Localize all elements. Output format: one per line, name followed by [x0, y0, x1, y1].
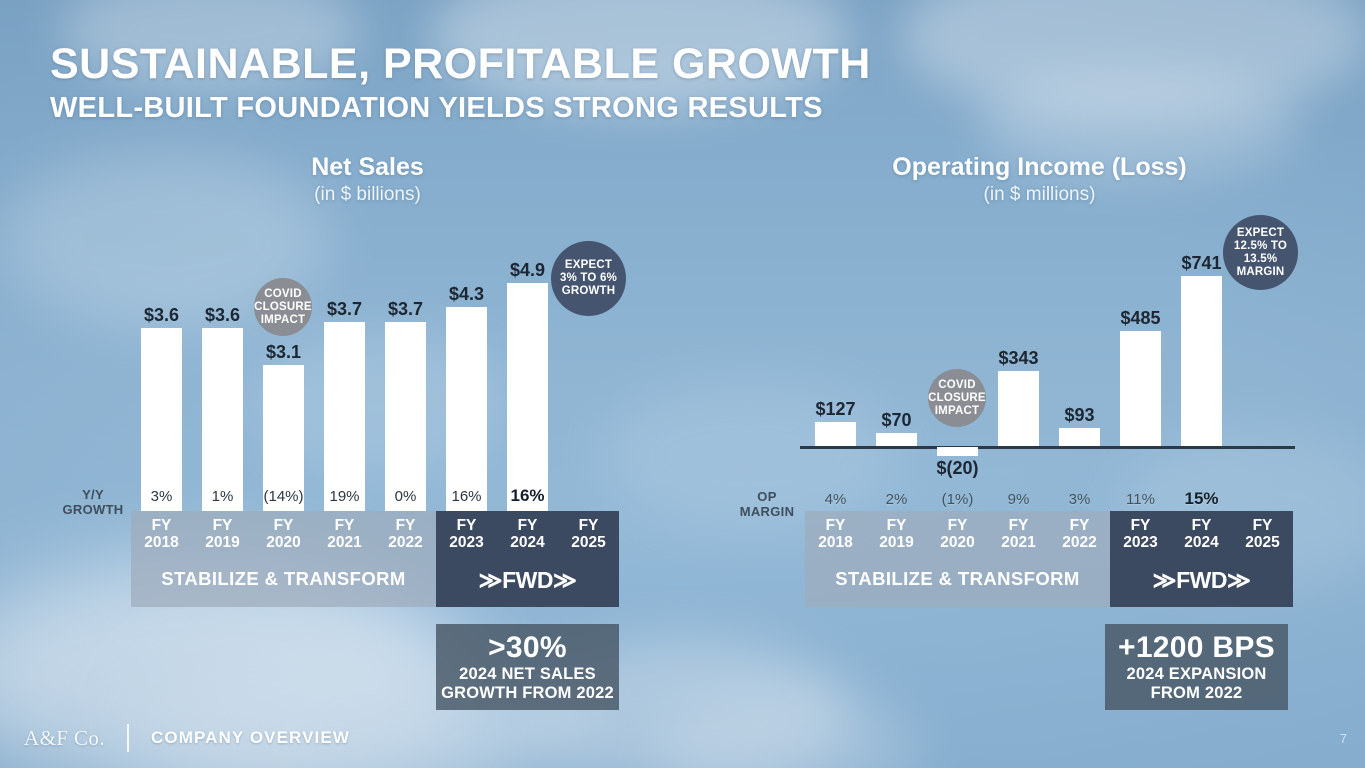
x-tick-fy2018-line2: 2018 — [131, 534, 192, 551]
net-sales-callout: >30% 2024 NET SALES GROWTH FROM 2022 — [436, 624, 619, 710]
page-number: 7 — [1340, 731, 1347, 746]
bar-fy2024 — [1181, 276, 1222, 446]
phase-band-fwd-label: ≫FWD≫ — [436, 567, 619, 594]
value-label-fy2022: $93 — [1045, 405, 1114, 426]
x-tick-fy2019: FY 2019 — [192, 517, 253, 551]
expect-badge-line2: 3% TO 6% — [560, 272, 617, 285]
covid-badge-line3: IMPACT — [254, 314, 312, 327]
operating-income-callout-line2: FROM 2022 — [1151, 684, 1243, 703]
value-label-fy2018: $3.6 — [131, 305, 192, 326]
net-sales-callout-headline: >30% — [488, 631, 567, 665]
x-tick-fy2022-line1: FY — [375, 517, 436, 534]
growth-label-fy2023: 16% — [446, 488, 487, 505]
bar-fy2021 — [324, 322, 365, 511]
x-tick-fy2021-line1: FY — [314, 517, 375, 534]
net-sales-callout-line1: 2024 NET SALES — [459, 665, 596, 684]
x-tick-fy2023: FY 2023 — [1110, 517, 1171, 551]
net-sales-chart: $3.6 $3.6 $3.1 $3.7 $3.7 $4.3 $4.9 3% 1%… — [0, 0, 683, 768]
x-tick-fy2019-line2: 2019 — [192, 534, 253, 551]
expect-badge-line1: EXPECT — [1234, 227, 1287, 240]
x-tick-fy2020: FY 2020 — [927, 517, 988, 551]
slide-footer: A&F Co. COMPANY OVERVIEW — [24, 724, 350, 752]
x-tick-fy2021: FY 2021 — [314, 517, 375, 551]
x-tick-fy2025-line1: FY — [558, 517, 619, 534]
x-tick-fy2018-line1: FY — [131, 517, 192, 534]
operating-income-chart: $127 $70 $(20) $343 $93 $485 $741 4% 2% … — [683, 0, 1365, 768]
value-label-fy2023: $485 — [1106, 308, 1175, 329]
x-tick-fy2022-line2: 2022 — [1049, 534, 1110, 551]
x-tick-fy2020-line2: 2020 — [253, 534, 314, 551]
brand-logo: A&F Co. — [24, 726, 105, 751]
covid-badge-line2: CLOSURE — [928, 392, 986, 405]
expect-growth-badge: EXPECT 3% TO 6% GROWTH — [551, 241, 626, 316]
x-tick-fy2022: FY 2022 — [375, 517, 436, 551]
bar-fy2023 — [446, 307, 487, 511]
x-tick-fy2025: FY 2025 — [558, 517, 619, 551]
x-tick-fy2018-line2: 2018 — [805, 534, 866, 551]
x-tick-fy2024: FY 2024 — [497, 517, 558, 551]
net-sales-callout-line2: GROWTH FROM 2022 — [441, 684, 614, 703]
bar-fy2023 — [1120, 331, 1161, 446]
x-tick-fy2020-line1: FY — [927, 517, 988, 534]
phase-band-stabilize-label: STABILIZE & TRANSFORM — [805, 568, 1110, 590]
x-tick-fy2024-line2: 2024 — [497, 534, 558, 551]
growth-label-fy2018: 3% — [141, 488, 182, 505]
x-tick-fy2020-line2: 2020 — [927, 534, 988, 551]
growth-label-fy2020: (14%) — [259, 488, 308, 505]
x-tick-fy2021: FY 2021 — [988, 517, 1049, 551]
growth-label-fy2024: 16% — [507, 486, 548, 506]
x-tick-fy2024: FY 2024 — [1171, 517, 1232, 551]
operating-income-callout-headline: +1200 BPS — [1118, 631, 1275, 665]
covid-closure-impact-badge: COVID CLOSURE IMPACT — [928, 369, 986, 427]
x-tick-fy2023-line1: FY — [436, 517, 497, 534]
x-tick-fy2020: FY 2020 — [253, 517, 314, 551]
bar-fy2019 — [876, 433, 917, 446]
x-tick-fy2022-line2: 2022 — [375, 534, 436, 551]
footer-section-label: COMPANY OVERVIEW — [151, 728, 350, 748]
bar-fy2022 — [385, 322, 426, 511]
value-label-fy2022: $3.7 — [375, 299, 436, 320]
bar-fy2024 — [507, 283, 548, 511]
axis-label-line2: GROWTH — [58, 502, 128, 517]
x-tick-fy2023-line2: 2023 — [1110, 534, 1171, 551]
op-margin-label-fy2023: 11% — [1120, 491, 1161, 508]
phase-band-fwd-label: ≫FWD≫ — [1110, 567, 1293, 594]
covid-closure-impact-badge: COVID CLOSURE IMPACT — [254, 278, 312, 336]
x-tick-fy2022: FY 2022 — [1049, 517, 1110, 551]
value-label-fy2023: $4.3 — [436, 284, 497, 305]
x-tick-fy2019: FY 2019 — [866, 517, 927, 551]
footer-divider — [127, 724, 129, 752]
value-label-fy2019: $70 — [862, 410, 931, 431]
covid-badge-line1: COVID — [928, 379, 986, 392]
axis-label-line1: OP — [732, 489, 802, 504]
value-label-fy2020: $3.1 — [253, 342, 314, 363]
axis-label-line1: Y/Y — [58, 487, 128, 502]
operating-income-callout-line1: 2024 EXPANSION — [1126, 665, 1266, 684]
x-tick-fy2023-line1: FY — [1110, 517, 1171, 534]
covid-badge-line3: IMPACT — [928, 405, 986, 418]
x-tick-fy2018-line1: FY — [805, 517, 866, 534]
x-tick-fy2018: FY 2018 — [131, 517, 192, 551]
x-tick-fy2024-line1: FY — [497, 517, 558, 534]
op-margin-label-fy2018: 4% — [815, 491, 856, 508]
x-tick-fy2025: FY 2025 — [1232, 517, 1293, 551]
value-label-fy2019: $3.6 — [192, 305, 253, 326]
op-margin-label-fy2019: 2% — [876, 491, 917, 508]
x-tick-fy2019-line2: 2019 — [866, 534, 927, 551]
value-label-fy2021: $3.7 — [314, 299, 375, 320]
growth-label-fy2022: 0% — [385, 488, 426, 505]
operating-income-callout: +1200 BPS 2024 EXPANSION FROM 2022 — [1105, 624, 1288, 710]
x-tick-fy2025-line2: 2025 — [1232, 534, 1293, 551]
expect-margin-badge: EXPECT 12.5% TO 13.5% MARGIN — [1223, 215, 1298, 290]
expect-badge-line1: EXPECT — [560, 259, 617, 272]
x-tick-fy2023-line2: 2023 — [436, 534, 497, 551]
phase-band-stabilize-label: STABILIZE & TRANSFORM — [131, 568, 436, 590]
op-margin-label-fy2020: (1%) — [933, 491, 982, 508]
value-label-fy2020: $(20) — [923, 458, 992, 479]
x-tick-fy2021-line1: FY — [988, 517, 1049, 534]
value-label-fy2018: $127 — [801, 399, 870, 420]
yy-growth-axis-label: Y/Y GROWTH Y/Y GROWTH — [58, 487, 128, 517]
expect-badge-line3: 13.5% — [1234, 253, 1287, 266]
expect-badge-line4: MARGIN — [1234, 266, 1287, 279]
op-margin-label-fy2022: 3% — [1059, 491, 1100, 508]
x-tick-fy2023: FY 2023 — [436, 517, 497, 551]
bar-fy2019 — [202, 328, 243, 511]
x-tick-fy2025-line2: 2025 — [558, 534, 619, 551]
growth-label-fy2019: 1% — [202, 488, 243, 505]
value-label-fy2021: $343 — [984, 348, 1053, 369]
expect-badge-line3: GROWTH — [560, 285, 617, 298]
x-tick-fy2021-line2: 2021 — [988, 534, 1049, 551]
x-tick-fy2024-line1: FY — [1171, 517, 1232, 534]
x-tick-fy2019-line1: FY — [866, 517, 927, 534]
x-tick-fy2024-line2: 2024 — [1171, 534, 1232, 551]
bar-fy2021 — [998, 371, 1039, 446]
value-label-fy2024: $4.9 — [497, 260, 558, 281]
axis-label-line2: MARGIN — [732, 504, 802, 519]
bar-fy2020-negative — [937, 447, 978, 456]
bar-fy2022 — [1059, 428, 1100, 446]
x-tick-fy2021-line2: 2021 — [314, 534, 375, 551]
covid-badge-line1: COVID — [254, 288, 312, 301]
op-margin-axis-label: OP MARGIN — [732, 489, 802, 519]
x-tick-fy2020-line1: FY — [253, 517, 314, 534]
x-tick-fy2019-line1: FY — [192, 517, 253, 534]
covid-badge-line2: CLOSURE — [254, 301, 312, 314]
x-tick-fy2025-line1: FY — [1232, 517, 1293, 534]
op-margin-label-fy2021: 9% — [998, 491, 1039, 508]
zero-axis-line — [800, 446, 1295, 449]
op-margin-label-fy2024: 15% — [1181, 489, 1222, 509]
expect-badge-line2: 12.5% TO — [1234, 240, 1287, 253]
bar-fy2018 — [815, 422, 856, 446]
x-tick-fy2022-line1: FY — [1049, 517, 1110, 534]
x-tick-fy2018: FY 2018 — [805, 517, 866, 551]
growth-label-fy2021: 19% — [324, 488, 365, 505]
bar-fy2018 — [141, 328, 182, 511]
